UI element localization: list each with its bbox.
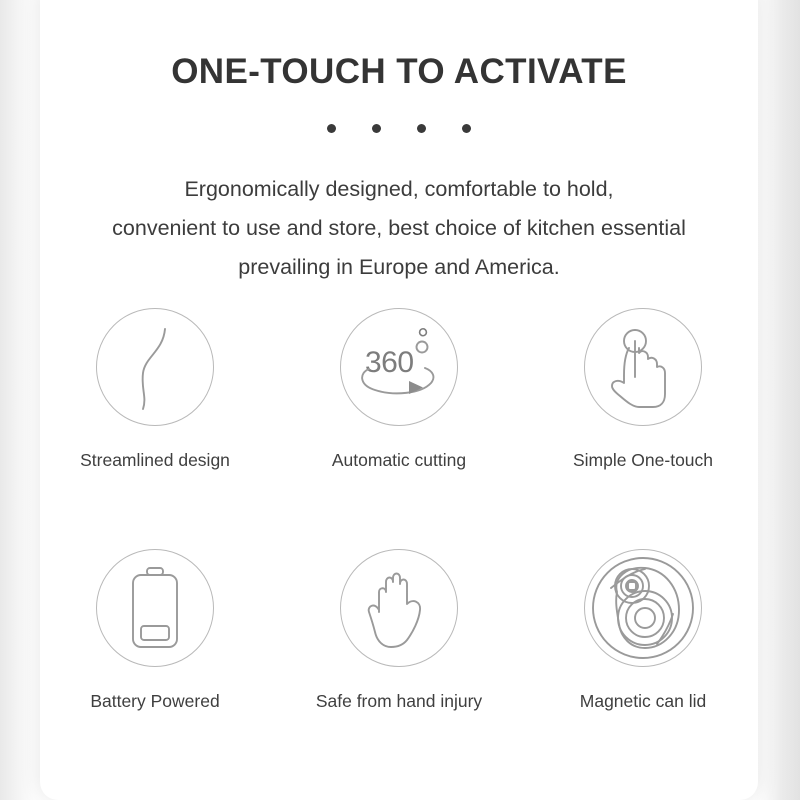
feature-safe-from-hand-injury: Safe from hand injury xyxy=(313,549,485,712)
360-icon-text: 360 xyxy=(365,346,414,379)
page-title: ONE-TOUCH TO ACTIVATE xyxy=(40,52,758,92)
feature-automatic-cutting: 360° Automatic cutting xyxy=(313,308,485,471)
page-root: ONE-TOUCH TO ACTIVATE Ergonomically desi… xyxy=(0,0,800,800)
feature-caption: Streamlined design xyxy=(80,450,230,471)
feature-battery-powered: Battery Powered xyxy=(69,549,241,712)
feature-simple-one-touch: Simple One-touch xyxy=(557,308,729,471)
feature-magnetic-can-lid: Magnetic can lid xyxy=(557,549,729,712)
card-content: ONE-TOUCH TO ACTIVATE Ergonomically desi… xyxy=(40,0,758,800)
description-line-3: prevailing in Europe and America. xyxy=(90,248,708,287)
feature-caption: Magnetic can lid xyxy=(580,691,706,712)
feature-row-2: Battery Powered Safe from hand injury xyxy=(40,549,758,712)
feature-streamlined-design: Streamlined design xyxy=(69,308,241,471)
dot-1 xyxy=(327,124,336,133)
feature-grid: Streamlined design 360° Automatic cuttin… xyxy=(40,308,758,712)
dot-3 xyxy=(417,124,426,133)
description-paragraph: Ergonomically designed, comfortable to h… xyxy=(90,170,708,287)
feature-caption: Automatic cutting xyxy=(332,450,466,471)
battery-icon xyxy=(96,549,214,667)
s-curve-icon xyxy=(96,308,214,426)
feature-caption: Safe from hand injury xyxy=(316,691,482,712)
decorative-dots xyxy=(40,124,758,133)
dot-2 xyxy=(372,124,381,133)
feature-row-1: Streamlined design 360° Automatic cuttin… xyxy=(40,308,758,471)
feature-caption: Battery Powered xyxy=(90,691,219,712)
dot-4 xyxy=(462,124,471,133)
tap-finger-icon xyxy=(584,308,702,426)
product-feature-card: ONE-TOUCH TO ACTIVATE Ergonomically desi… xyxy=(40,0,758,800)
description-line-2: convenient to use and store, best choice… xyxy=(90,209,708,248)
360-rotation-icon: 360° xyxy=(340,308,458,426)
open-palm-hand-icon xyxy=(340,549,458,667)
description-line-1: Ergonomically designed, comfortable to h… xyxy=(90,170,708,209)
magnetic-can-lid-icon xyxy=(584,549,702,667)
feature-caption: Simple One-touch xyxy=(573,450,713,471)
